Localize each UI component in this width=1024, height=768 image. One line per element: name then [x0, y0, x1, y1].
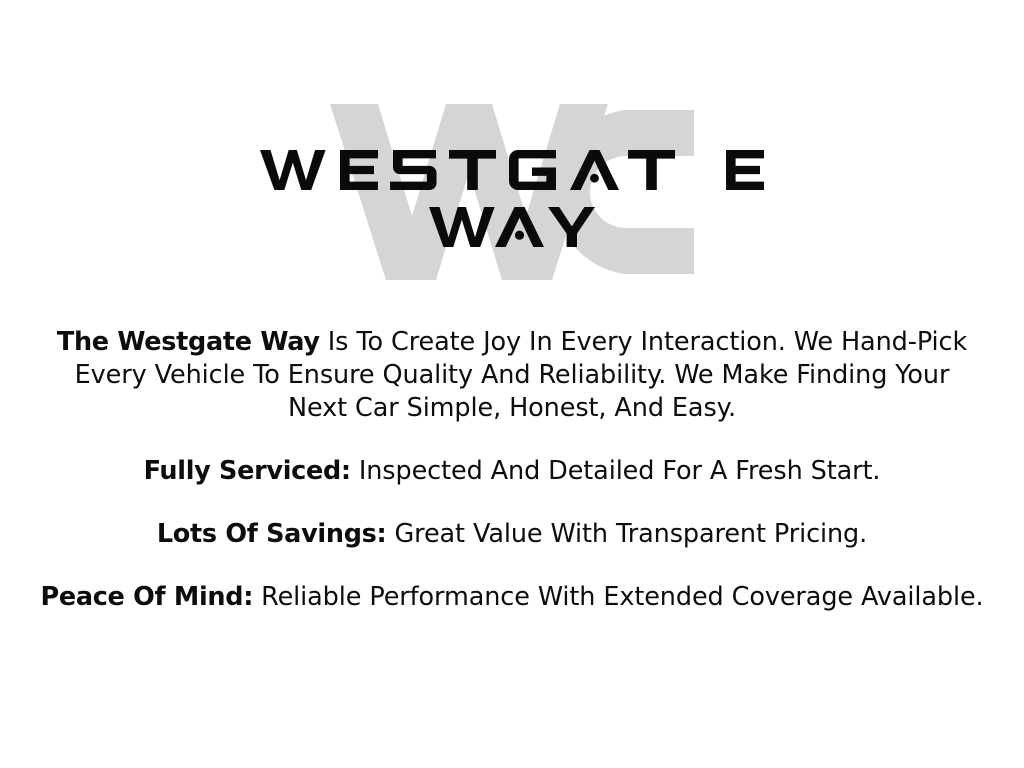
paragraph-savings: Lots Of Savings: Great Value With Transp… — [30, 518, 994, 551]
paragraph-serviced-rest: Inspected And Detailed For A Fresh Start… — [351, 456, 881, 486]
paragraph-intro-lead: The Westgate Way — [57, 327, 320, 357]
logo-line-way — [0, 205, 1024, 249]
paragraph-peace-of-mind: Peace Of Mind: Reliable Performance With… — [24, 581, 1000, 614]
paragraph-savings-lead: Lots Of Savings: — [157, 519, 387, 549]
paragraph-peace-of-mind-lead: Peace Of Mind: — [40, 582, 253, 612]
logo-line-westgate — [0, 148, 1024, 192]
paragraph-peace-of-mind-rest: Reliable Performance With Extended Cover… — [253, 582, 983, 612]
logo-wordmark — [0, 96, 1024, 286]
paragraph-intro: The Westgate Way Is To Create Joy In Eve… — [47, 326, 977, 425]
body-copy: The Westgate Way Is To Create Joy In Eve… — [30, 326, 994, 614]
paragraph-serviced: Fully Serviced: Inspected And Detailed F… — [30, 455, 994, 488]
paragraph-savings-rest: Great Value With Transparent Pricing. — [386, 519, 867, 549]
paragraph-serviced-lead: Fully Serviced: — [144, 456, 351, 486]
logo-block — [0, 96, 1024, 286]
